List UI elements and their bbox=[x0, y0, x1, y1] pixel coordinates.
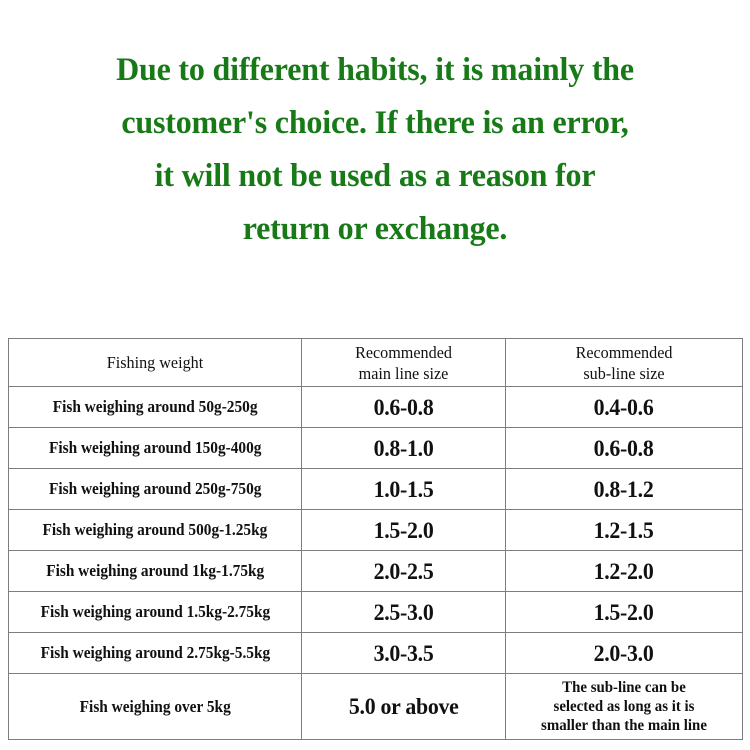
header-main-line-size-line2: main line size bbox=[311, 363, 496, 384]
table-row: Fish weighing around 150g-400g 0.8-1.0 0… bbox=[9, 428, 743, 469]
cell-fishing-weight: Fish weighing around 1.5kg-2.75kg bbox=[9, 592, 302, 633]
header-main-line-size: Recommended main line size bbox=[302, 339, 506, 387]
cell-main-line-size: 0.8-1.0 bbox=[302, 428, 506, 469]
cell-fishing-weight-text: Fish weighing around 2.75kg-5.5kg bbox=[40, 643, 270, 663]
cell-sub-line-note-line2: selected as long as it is bbox=[515, 697, 734, 716]
cell-fishing-weight-text: Fish weighing around 50g-250g bbox=[53, 397, 258, 417]
notice-line-4: return or exchange. bbox=[11, 203, 739, 256]
table-row: Fish weighing around 2.75kg-5.5kg 3.0-3.… bbox=[9, 633, 743, 674]
cell-fishing-weight-text: Fish weighing around 1.5kg-2.75kg bbox=[40, 602, 270, 622]
cell-main-line-size-text: 0.8-1.0 bbox=[374, 435, 434, 462]
cell-fishing-weight: Fish weighing around 250g-750g bbox=[9, 469, 302, 510]
header-fishing-weight: Fishing weight bbox=[9, 339, 302, 387]
cell-main-line-size: 0.6-0.8 bbox=[302, 387, 506, 428]
cell-main-line-size-text: 3.0-3.5 bbox=[374, 640, 434, 667]
cell-sub-line-size: 1.2-1.5 bbox=[506, 510, 743, 551]
cell-main-line-size: 5.0 or above bbox=[302, 674, 506, 740]
cell-main-line-size: 2.5-3.0 bbox=[302, 592, 506, 633]
table-body: Fish weighing around 50g-250g 0.6-0.8 0.… bbox=[9, 387, 743, 740]
cell-fishing-weight-text: Fish weighing around 500g-1.25kg bbox=[43, 520, 268, 540]
table-row: Fish weighing around 50g-250g 0.6-0.8 0.… bbox=[9, 387, 743, 428]
cell-sub-line-size-text: 0.4-0.6 bbox=[594, 394, 654, 421]
cell-fishing-weight-text: Fish weighing over 5kg bbox=[79, 697, 230, 717]
cell-fishing-weight: Fish weighing over 5kg bbox=[9, 674, 302, 740]
cell-main-line-size-text: 2.5-3.0 bbox=[374, 599, 434, 626]
header-sub-line-size-line2: sub-line size bbox=[516, 363, 733, 384]
table-header-row: Fishing weight Recommended main line siz… bbox=[9, 339, 743, 387]
cell-fishing-weight: Fish weighing around 150g-400g bbox=[9, 428, 302, 469]
header-main-line-size-line1: Recommended bbox=[311, 342, 496, 363]
cell-fishing-weight: Fish weighing around 500g-1.25kg bbox=[9, 510, 302, 551]
line-size-table-wrapper: Fishing weight Recommended main line siz… bbox=[8, 338, 742, 740]
cell-fishing-weight-text: Fish weighing around 1kg-1.75kg bbox=[46, 561, 264, 581]
table-row: Fish weighing around 1.5kg-2.75kg 2.5-3.… bbox=[9, 592, 743, 633]
cell-sub-line-size-text: 0.6-0.8 bbox=[594, 435, 654, 462]
cell-sub-line-note: The sub-line can be selected as long as … bbox=[506, 674, 743, 740]
cell-sub-line-size-text: 1.2-2.0 bbox=[594, 558, 654, 585]
cell-sub-line-size: 0.6-0.8 bbox=[506, 428, 743, 469]
notice-line-2: customer's choice. If there is an error, bbox=[11, 97, 739, 150]
cell-main-line-size-text: 1.0-1.5 bbox=[374, 476, 434, 503]
cell-fishing-weight-text: Fish weighing around 250g-750g bbox=[49, 479, 261, 499]
cell-sub-line-size: 0.4-0.6 bbox=[506, 387, 743, 428]
cell-sub-line-size-text: 1.5-2.0 bbox=[594, 599, 654, 626]
notice-line-3: it will not be used as a reason for bbox=[11, 150, 739, 203]
header-sub-line-size: Recommended sub-line size bbox=[506, 339, 743, 387]
header-sub-line-size-line1: Recommended bbox=[516, 342, 733, 363]
cell-sub-line-note-line3: smaller than the main line bbox=[515, 716, 734, 735]
cell-fishing-weight-text: Fish weighing around 150g-400g bbox=[49, 438, 261, 458]
table-row: Fish weighing around 500g-1.25kg 1.5-2.0… bbox=[9, 510, 743, 551]
cell-main-line-size-text: 1.5-2.0 bbox=[374, 517, 434, 544]
cell-main-line-size-text: 0.6-0.8 bbox=[374, 394, 434, 421]
product-spec-page: Due to different habits, it is mainly th… bbox=[0, 0, 750, 750]
table-row: Fish weighing over 5kg 5.0 or above The … bbox=[9, 674, 743, 740]
cell-main-line-size: 3.0-3.5 bbox=[302, 633, 506, 674]
cell-sub-line-size: 1.5-2.0 bbox=[506, 592, 743, 633]
table-row: Fish weighing around 250g-750g 1.0-1.5 0… bbox=[9, 469, 743, 510]
cell-fishing-weight: Fish weighing around 50g-250g bbox=[9, 387, 302, 428]
line-size-recommendation-table: Fishing weight Recommended main line siz… bbox=[8, 338, 743, 740]
cell-main-line-size: 1.5-2.0 bbox=[302, 510, 506, 551]
cell-sub-line-size-text: 0.8-1.2 bbox=[594, 476, 654, 503]
return-policy-notice: Due to different habits, it is mainly th… bbox=[0, 44, 750, 256]
cell-main-line-size-text: 2.0-2.5 bbox=[374, 558, 434, 585]
cell-sub-line-size: 1.2-2.0 bbox=[506, 551, 743, 592]
cell-main-line-size-text: 5.0 or above bbox=[349, 693, 459, 720]
cell-main-line-size: 1.0-1.5 bbox=[302, 469, 506, 510]
cell-fishing-weight: Fish weighing around 1kg-1.75kg bbox=[9, 551, 302, 592]
cell-sub-line-size-text: 1.2-1.5 bbox=[594, 517, 654, 544]
cell-sub-line-size-text: 2.0-3.0 bbox=[594, 640, 654, 667]
cell-fishing-weight: Fish weighing around 2.75kg-5.5kg bbox=[9, 633, 302, 674]
cell-main-line-size: 2.0-2.5 bbox=[302, 551, 506, 592]
cell-sub-line-size: 0.8-1.2 bbox=[506, 469, 743, 510]
header-fishing-weight-label: Fishing weight bbox=[20, 352, 290, 373]
notice-line-1: Due to different habits, it is mainly th… bbox=[11, 44, 739, 97]
table-row: Fish weighing around 1kg-1.75kg 2.0-2.5 … bbox=[9, 551, 743, 592]
cell-sub-line-size: 2.0-3.0 bbox=[506, 633, 743, 674]
cell-sub-line-note-line1: The sub-line can be bbox=[515, 678, 734, 697]
